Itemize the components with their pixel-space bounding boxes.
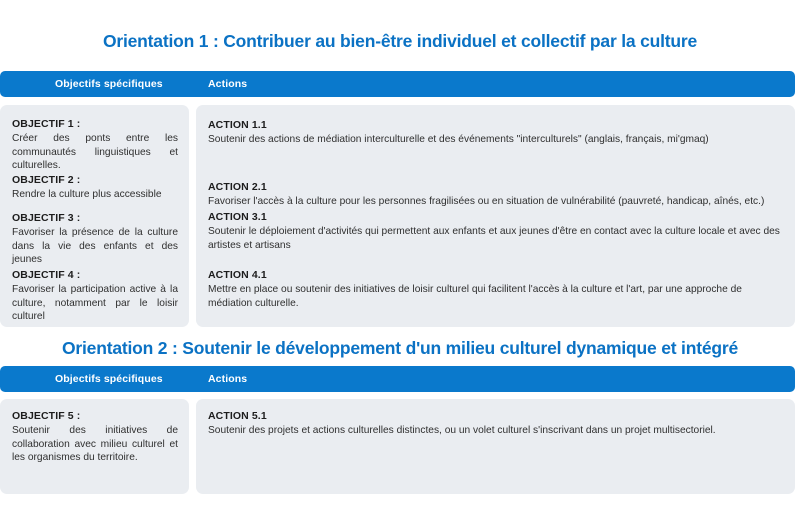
- action-entry: ACTION 3.1 Soutenir le déploiement d'act…: [208, 210, 788, 252]
- action-entry: ACTION 2.1 Favoriser l'accès à la cultur…: [208, 180, 788, 209]
- objective-entry: OBJECTIF 5 : Soutenir des initiatives de…: [12, 409, 178, 465]
- section-title-orientation-2: Orientation 2 : Soutenir le développemen…: [0, 337, 800, 359]
- objective-text: Soutenir des initiatives de collaboratio…: [12, 424, 178, 465]
- action-text: Soutenir des actions de médiation interc…: [208, 133, 788, 147]
- objectives-panel-section-1: OBJECTIF 1 : Créer des ponts entre les c…: [0, 105, 189, 327]
- action-entry: ACTION 5.1 Soutenir des projets et actio…: [208, 409, 788, 438]
- objective-title: OBJECTIF 2 :: [12, 173, 182, 187]
- action-text: Soutenir le déploiement d'activités qui …: [208, 225, 788, 252]
- objective-entry: OBJECTIF 3 : Favoriser la présence de la…: [12, 211, 178, 267]
- actions-panel-section-2: ACTION 5.1 Soutenir des projets et actio…: [196, 399, 795, 494]
- action-entry: ACTION 4.1 Mettre en place ou soutenir d…: [208, 268, 788, 310]
- objective-text: Rendre la culture plus accessible: [12, 188, 182, 202]
- objective-entry: OBJECTIF 4 : Favoriser la participation …: [12, 268, 178, 324]
- action-text: Soutenir des projets et actions culturel…: [208, 424, 788, 438]
- action-title: ACTION 4.1: [208, 268, 788, 282]
- objective-title: OBJECTIF 1 :: [12, 117, 178, 131]
- actions-panel-section-1: ACTION 1.1 Soutenir des actions de média…: [196, 105, 795, 327]
- column-header-bar-section-2: Objectifs spécifiques Actions: [0, 366, 795, 392]
- column-header-actions-1: Actions: [208, 71, 247, 97]
- action-text: Favoriser l'accès à la culture pour les …: [208, 195, 788, 209]
- action-text: Mettre en place ou soutenir des initiati…: [208, 283, 788, 310]
- action-title: ACTION 3.1: [208, 210, 788, 224]
- column-header-bar-section-1: Objectifs spécifiques Actions: [0, 71, 795, 97]
- action-entry: ACTION 1.1 Soutenir des actions de média…: [208, 118, 788, 147]
- objective-title: OBJECTIF 4 :: [12, 268, 178, 282]
- column-header-objectifs-specifiques-2: Objectifs spécifiques: [55, 366, 163, 392]
- objective-entry: OBJECTIF 2 : Rendre la culture plus acce…: [12, 173, 182, 202]
- column-header-actions-2: Actions: [208, 366, 247, 392]
- column-header-objectifs-specifiques-1: Objectifs spécifiques: [55, 71, 163, 97]
- section-title-orientation-1: Orientation 1 : Contribuer au bien-être …: [0, 30, 800, 52]
- objectives-panel-section-2: OBJECTIF 5 : Soutenir des initiatives de…: [0, 399, 189, 494]
- objective-title: OBJECTIF 3 :: [12, 211, 178, 225]
- objective-entry: OBJECTIF 1 : Créer des ponts entre les c…: [12, 117, 178, 173]
- culture-action-plan-table: Orientation 1 : Contribuer au bien-être …: [0, 0, 800, 518]
- objective-text: Favoriser la participation active à la c…: [12, 283, 178, 324]
- action-title: ACTION 5.1: [208, 409, 788, 423]
- action-title: ACTION 2.1: [208, 180, 788, 194]
- action-title: ACTION 1.1: [208, 118, 788, 132]
- objective-text: Favoriser la présence de la culture dans…: [12, 226, 178, 267]
- objective-text: Créer des ponts entre les communautés li…: [12, 132, 178, 173]
- objective-title: OBJECTIF 5 :: [12, 409, 178, 423]
